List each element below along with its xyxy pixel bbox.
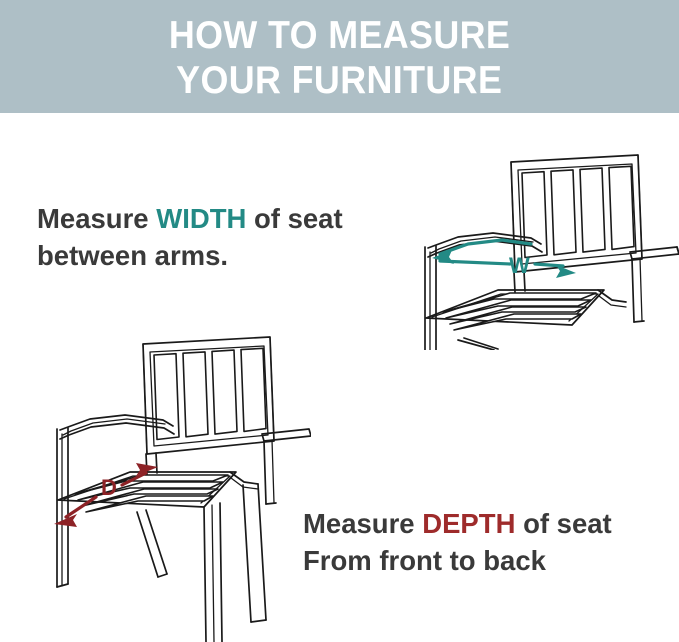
depth-caption-line-2: From front to back bbox=[303, 542, 612, 579]
page-title-line-1: HOW TO MEASURE bbox=[169, 13, 510, 58]
width-caption-prefix: Measure bbox=[37, 203, 156, 234]
width-dimension-label: W bbox=[509, 253, 530, 278]
depth-dimension-label: D bbox=[101, 475, 117, 500]
width-caption-suffix: of seat bbox=[246, 203, 342, 234]
depth-chair-diagram: D bbox=[30, 322, 311, 642]
width-caption-block: Measure WIDTH of seat between arms. bbox=[37, 200, 343, 274]
width-keyword: WIDTH bbox=[156, 203, 246, 234]
depth-caption-block: Measure DEPTH of seat From front to back bbox=[303, 505, 612, 579]
chair-arm-right bbox=[630, 247, 679, 322]
width-chair-diagram: W bbox=[398, 140, 679, 350]
depth-caption-suffix: of seat bbox=[515, 508, 611, 539]
page-title-line-2: YOUR FURNITURE bbox=[176, 58, 502, 103]
chair-arm-right bbox=[262, 429, 311, 504]
header-banner: HOW TO MEASURE YOUR FURNITURE bbox=[0, 0, 679, 113]
width-caption-line-1: Measure WIDTH of seat bbox=[37, 200, 343, 237]
chair-illustration-depth: D bbox=[30, 322, 311, 642]
depth-caption-line-1: Measure DEPTH of seat bbox=[303, 505, 612, 542]
depth-keyword: DEPTH bbox=[422, 508, 515, 539]
chair-illustration-width: W bbox=[398, 140, 679, 350]
infographic-canvas: HOW TO MEASURE YOUR FURNITURE Measure WI… bbox=[0, 0, 679, 642]
width-caption-line-2: between arms. bbox=[37, 237, 343, 274]
depth-caption-prefix: Measure bbox=[303, 508, 422, 539]
